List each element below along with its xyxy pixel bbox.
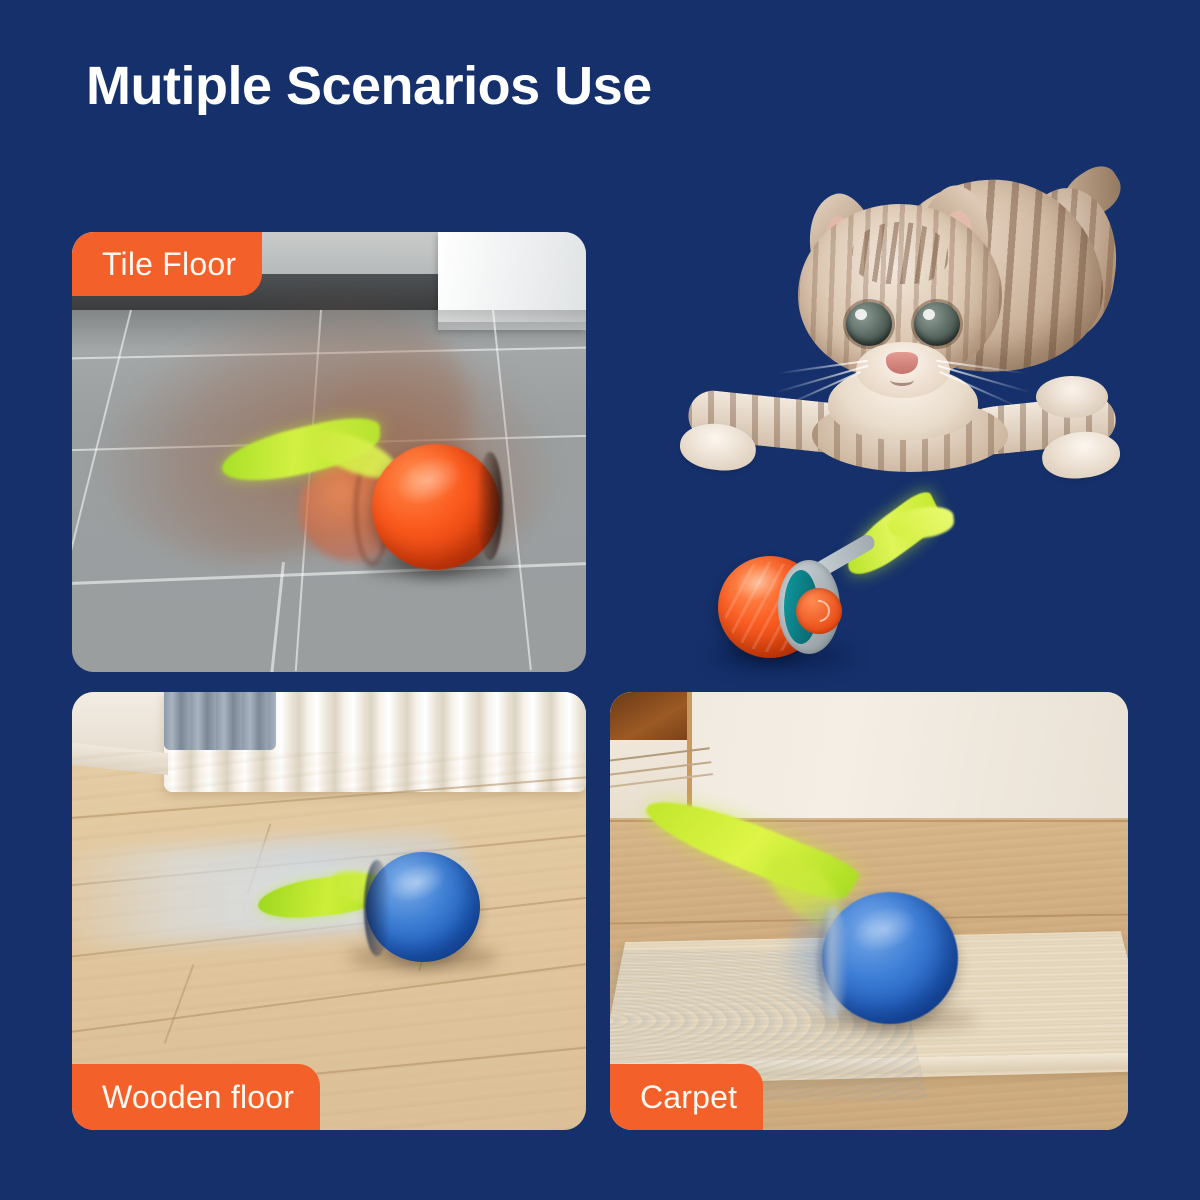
cat-right-eye (914, 302, 960, 346)
scene-card-wooden: Wooden floor (72, 692, 586, 1130)
ball-ring (818, 906, 848, 1018)
blue-ball (822, 892, 958, 1024)
cat-forehead-stripes (852, 222, 948, 284)
ball-ring (477, 452, 503, 560)
scene-card-carpet: Carpet (610, 692, 1128, 1130)
badge-wooden-floor: Wooden floor (72, 1064, 320, 1130)
cat-mouth (890, 374, 914, 386)
badge-tile-floor: Tile Floor (72, 232, 262, 296)
page-title: Mutiple Scenarios Use (86, 55, 652, 117)
cat-back-paw (1036, 376, 1108, 418)
hero-cat-and-product (660, 160, 1130, 660)
scene-card-tile: Tile Floor (72, 232, 586, 672)
product-smart-ball (712, 512, 952, 662)
blue-ball (366, 852, 480, 962)
tile-floor-photo (72, 232, 586, 672)
kitten-illustration (660, 160, 1130, 490)
cat-left-eye (846, 302, 892, 346)
ball-ring (364, 860, 390, 956)
grout-line (269, 562, 285, 672)
orange-ball (372, 444, 500, 570)
curtain-dark-section (164, 692, 276, 750)
badge-carpet: Carpet (610, 1064, 763, 1130)
